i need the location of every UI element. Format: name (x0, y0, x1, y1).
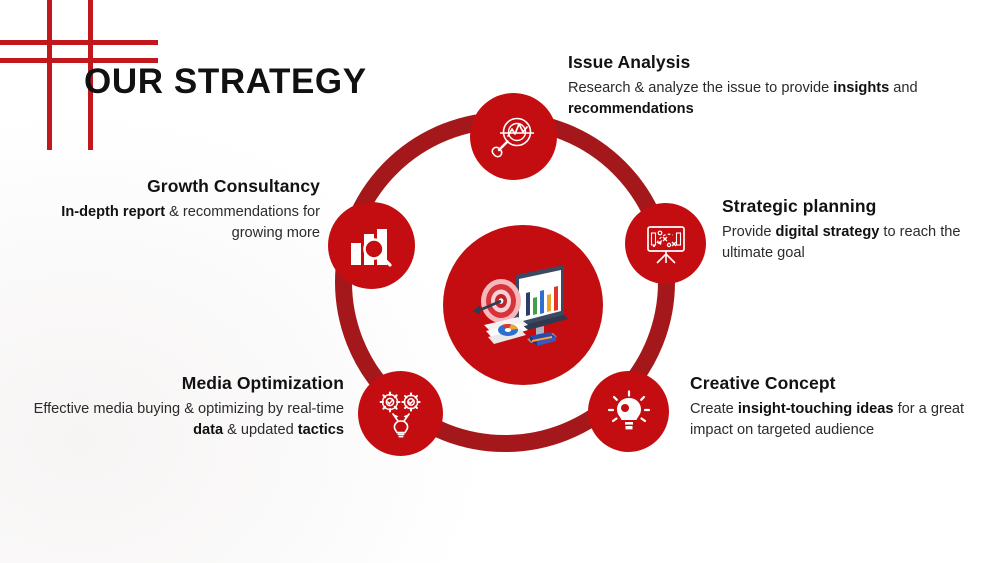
callout-issue-analysis: Issue Analysis Research & analyze the is… (568, 52, 948, 119)
callout-media-optimization: Media Optimization Effective media buyin… (22, 373, 344, 440)
callout-body: In-depth report & recommendations for gr… (22, 202, 320, 243)
callout-title: Strategic planning (722, 196, 1000, 217)
body-bold-2: tactics (298, 422, 344, 438)
body-bold-2: recommendations (568, 101, 694, 117)
strategy-board-easel-icon (643, 221, 689, 267)
body-bold-1: In-depth report (61, 204, 165, 220)
callout-title: Creative Concept (690, 373, 982, 394)
decor-horizontal-line-1 (0, 40, 158, 45)
callout-strategic-planning: Strategic planning Provide digital strat… (722, 196, 1000, 263)
node-issue-analysis[interactable] (470, 93, 557, 180)
body-bold-1: digital strategy (776, 224, 880, 240)
body-mid: and (889, 80, 917, 96)
body-bold-1: insights (833, 80, 889, 96)
node-growth-consultancy[interactable] (328, 202, 415, 289)
lightbulb-rays-icon (606, 389, 652, 435)
callout-growth-consultancy: Growth Consultancy In-depth report & rec… (22, 176, 320, 243)
body-bold-1: data (193, 422, 223, 438)
decor-vertical-line-1 (47, 0, 52, 150)
body-prefix: Effective media buying & optimizing by r… (34, 401, 344, 417)
callout-body: Research & analyze the issue to provide … (568, 78, 948, 119)
strategy-infographic-slide: OUR STRATEGY (0, 0, 1000, 563)
node-media-optimization[interactable] (358, 371, 443, 456)
body-prefix: Create (690, 401, 738, 417)
callout-title: Issue Analysis (568, 52, 948, 73)
callout-body: Effective media buying & optimizing by r… (22, 399, 344, 440)
bar-chart-magnifier-icon (346, 221, 398, 271)
magnifier-chart-icon (489, 112, 539, 162)
gears-lightbulb-icon (376, 389, 426, 439)
page-title: OUR STRATEGY (84, 62, 367, 102)
node-strategic-planning[interactable] (625, 203, 706, 284)
callout-title: Media Optimization (22, 373, 344, 394)
callout-body: Create insight-touching ideas for a grea… (690, 399, 982, 440)
callout-body: Provide digital strategy to reach the ul… (722, 222, 1000, 263)
center-hub-circle (443, 225, 603, 385)
callout-title: Growth Consultancy (22, 176, 320, 197)
body-mid: & recommendations for growing more (165, 204, 320, 241)
body-prefix: Provide (722, 224, 776, 240)
node-creative-concept[interactable] (588, 371, 669, 452)
callout-creative-concept: Creative Concept Create insight-touching… (690, 373, 982, 440)
body-prefix: Research & analyze the issue to provide (568, 80, 833, 96)
analytics-dashboard-illustration (464, 253, 582, 357)
body-mid: & updated (223, 422, 298, 438)
body-bold-1: insight-touching ideas (738, 401, 894, 417)
